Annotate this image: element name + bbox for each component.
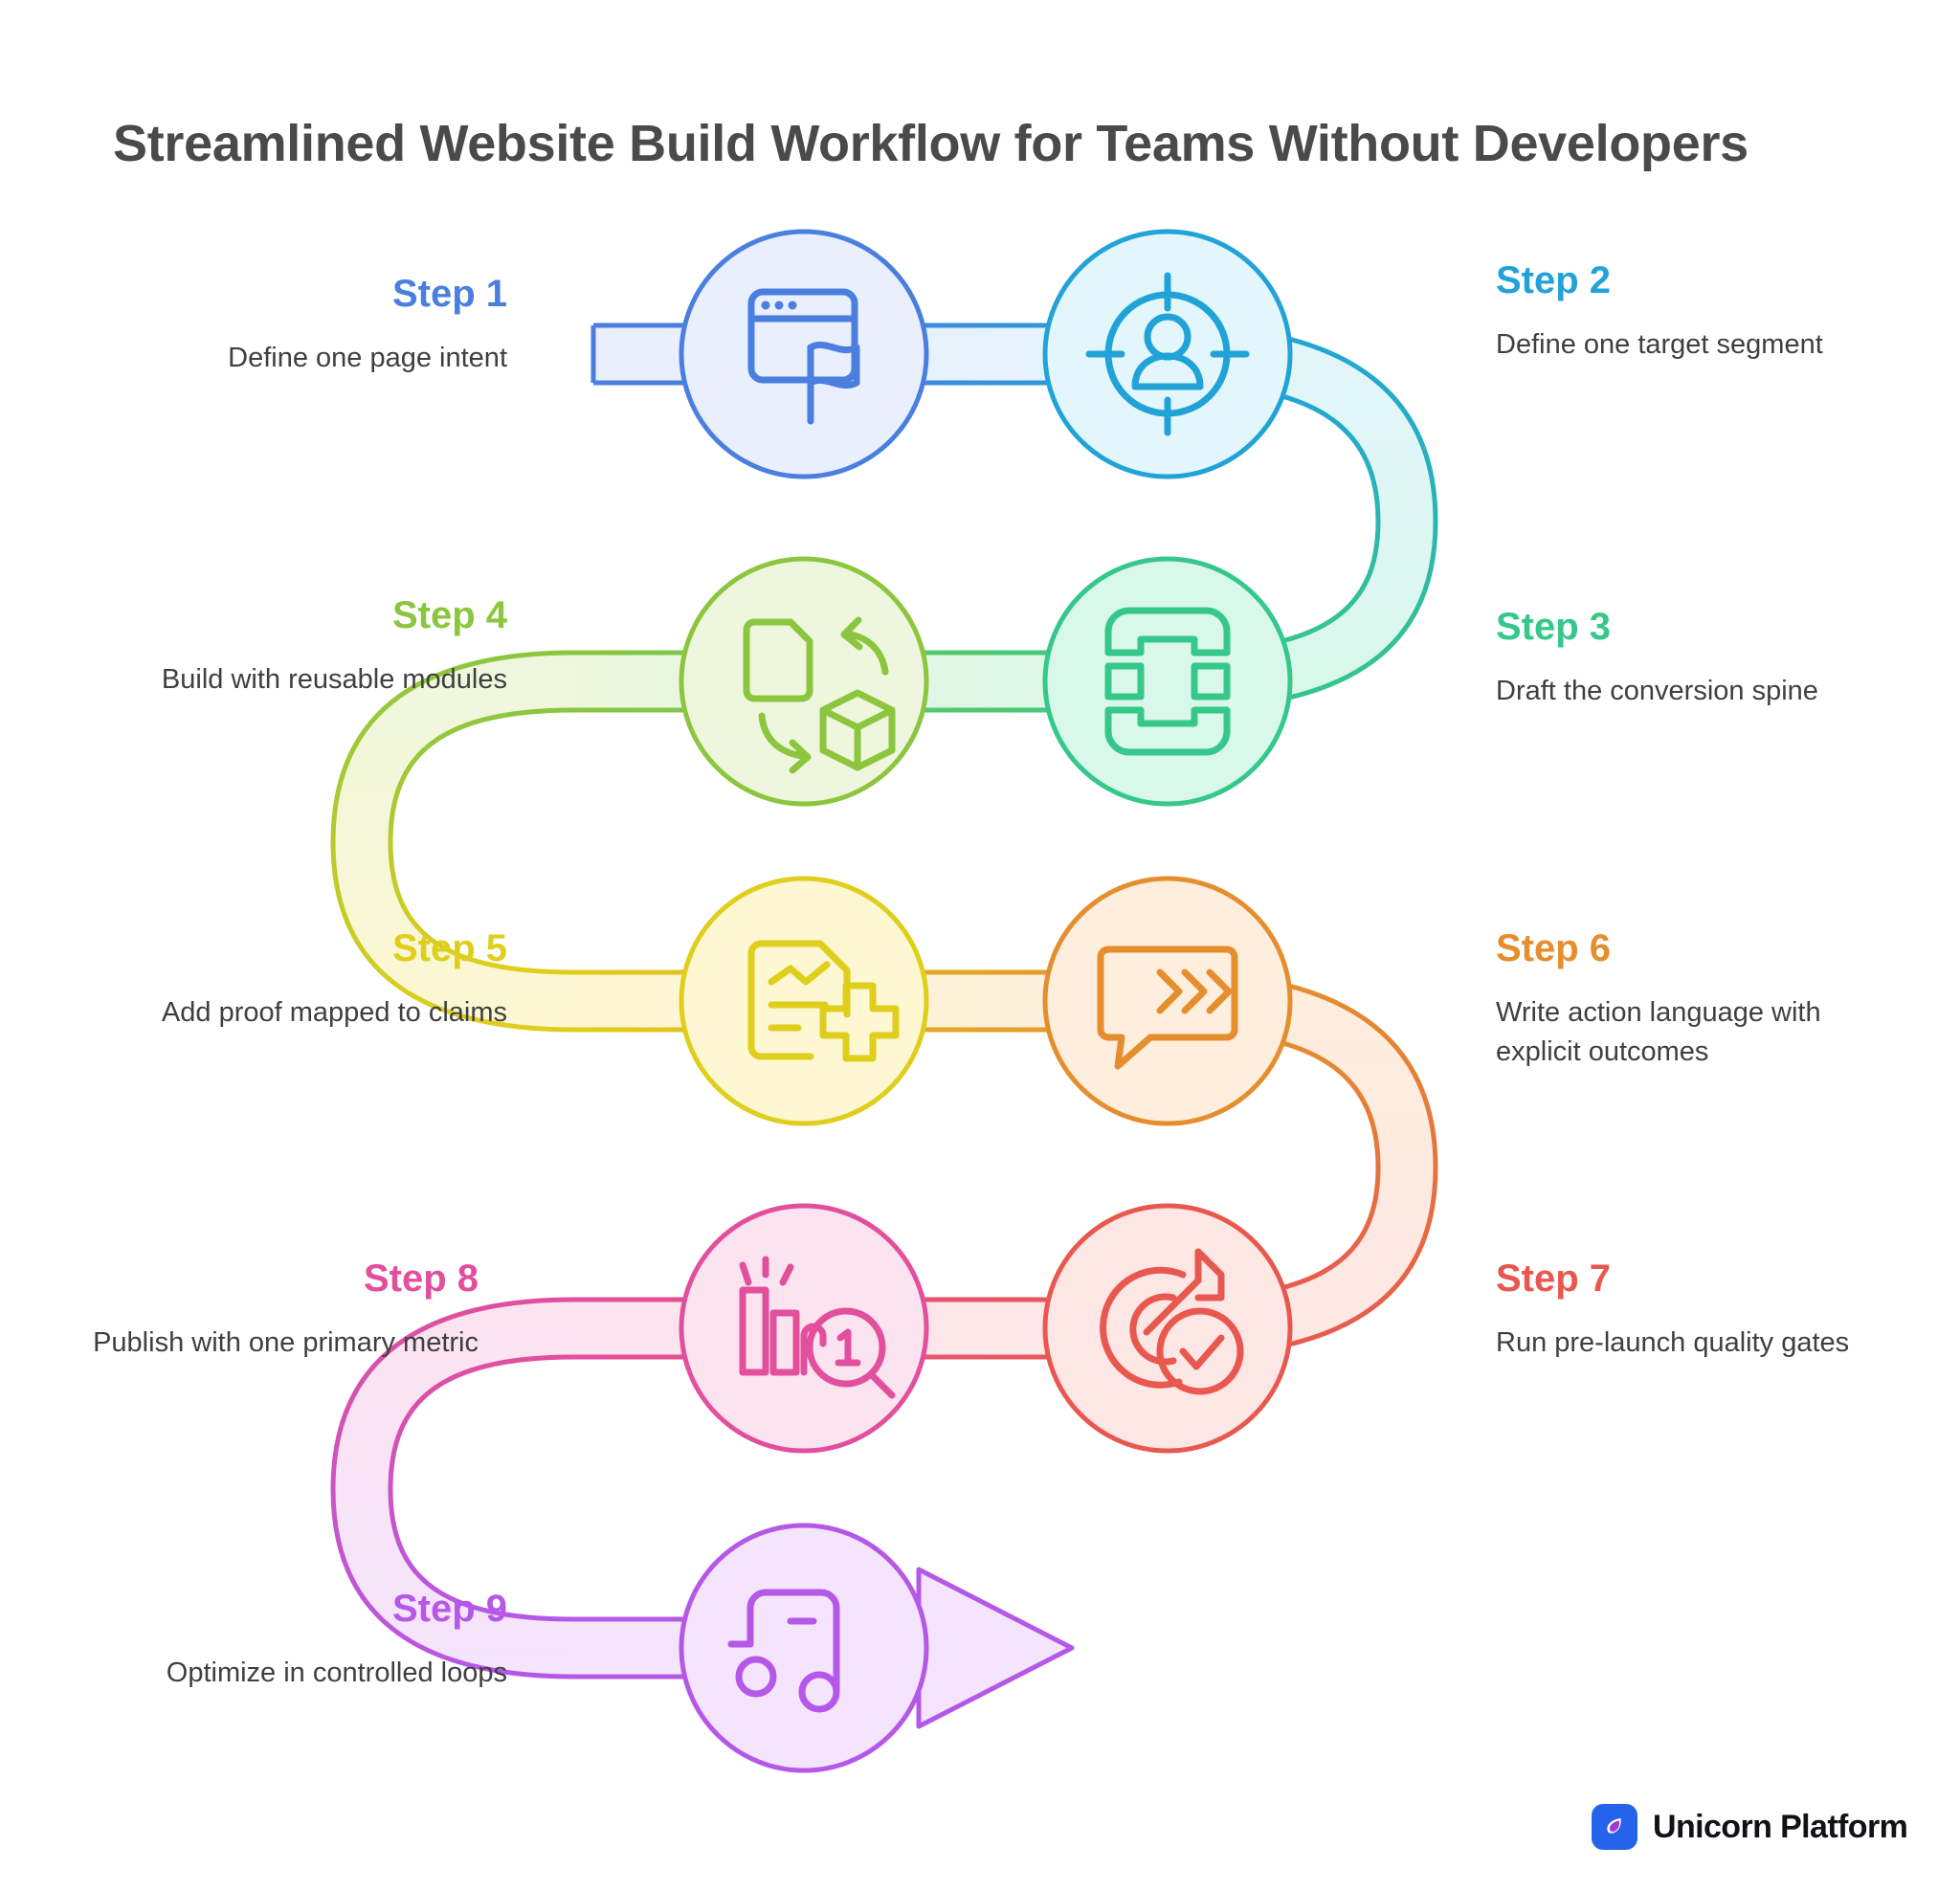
step-node-1[interactable]	[681, 232, 926, 477]
step-node-6[interactable]	[1045, 879, 1290, 1123]
step-desc-2: Define one target segment	[1496, 325, 1898, 365]
step-label-2[interactable]: Step 2 Define one target segment	[1496, 260, 1898, 365]
step-node-3[interactable]	[1045, 559, 1290, 804]
step-desc-6: Write action language with explicit outc…	[1496, 993, 1898, 1072]
step-label-8[interactable]: Step 8 Publish with one primary metric	[77, 1258, 479, 1363]
step-label-1[interactable]: Step 1 Define one page intent	[105, 274, 507, 378]
step-desc-9: Optimize in controlled loops	[105, 1654, 507, 1693]
step-title-8: Step 8	[77, 1258, 479, 1299]
step-node-4[interactable]	[681, 559, 926, 804]
step-title-7: Step 7	[1496, 1258, 1898, 1299]
step-desc-7: Run pre-launch quality gates	[1496, 1324, 1898, 1363]
step-title-9: Step 9	[105, 1589, 507, 1629]
step-node-8[interactable]	[681, 1206, 926, 1451]
step-label-3[interactable]: Step 3 Draft the conversion spine	[1496, 607, 1898, 711]
infographic-canvas: Streamlined Website Build Workflow for T…	[0, 0, 1960, 1891]
step-desc-4: Build with reusable modules	[105, 660, 507, 700]
step-node-2[interactable]	[1045, 232, 1290, 477]
step-desc-3: Draft the conversion spine	[1496, 672, 1898, 711]
step-desc-8: Publish with one primary metric	[77, 1324, 479, 1363]
step-title-1: Step 1	[105, 274, 507, 314]
step-title-3: Step 3	[1496, 607, 1898, 647]
step-title-5: Step 5	[105, 928, 507, 968]
step-title-2: Step 2	[1496, 260, 1898, 300]
step-node-9[interactable]	[681, 1525, 926, 1770]
brand-name: Unicorn Platform	[1653, 1809, 1907, 1846]
step-desc-1: Define one page intent	[105, 339, 507, 378]
step-label-5[interactable]: Step 5 Add proof mapped to claims	[105, 928, 507, 1033]
step-label-7[interactable]: Step 7 Run pre-launch quality gates	[1496, 1258, 1898, 1363]
step-node-5[interactable]	[681, 879, 926, 1123]
step-label-9[interactable]: Step 9 Optimize in controlled loops	[105, 1589, 507, 1693]
step-label-6[interactable]: Step 6 Write action language with explic…	[1496, 928, 1898, 1072]
step-node-7[interactable]	[1045, 1206, 1290, 1451]
unicorn-drop-icon	[1592, 1804, 1637, 1850]
footer-brand-logo[interactable]: Unicorn Platform	[1592, 1804, 1907, 1850]
step-desc-5: Add proof mapped to claims	[105, 993, 507, 1033]
step-title-6: Step 6	[1496, 928, 1898, 968]
step-label-4[interactable]: Step 4 Build with reusable modules	[105, 595, 507, 700]
step-title-4: Step 4	[105, 595, 507, 635]
